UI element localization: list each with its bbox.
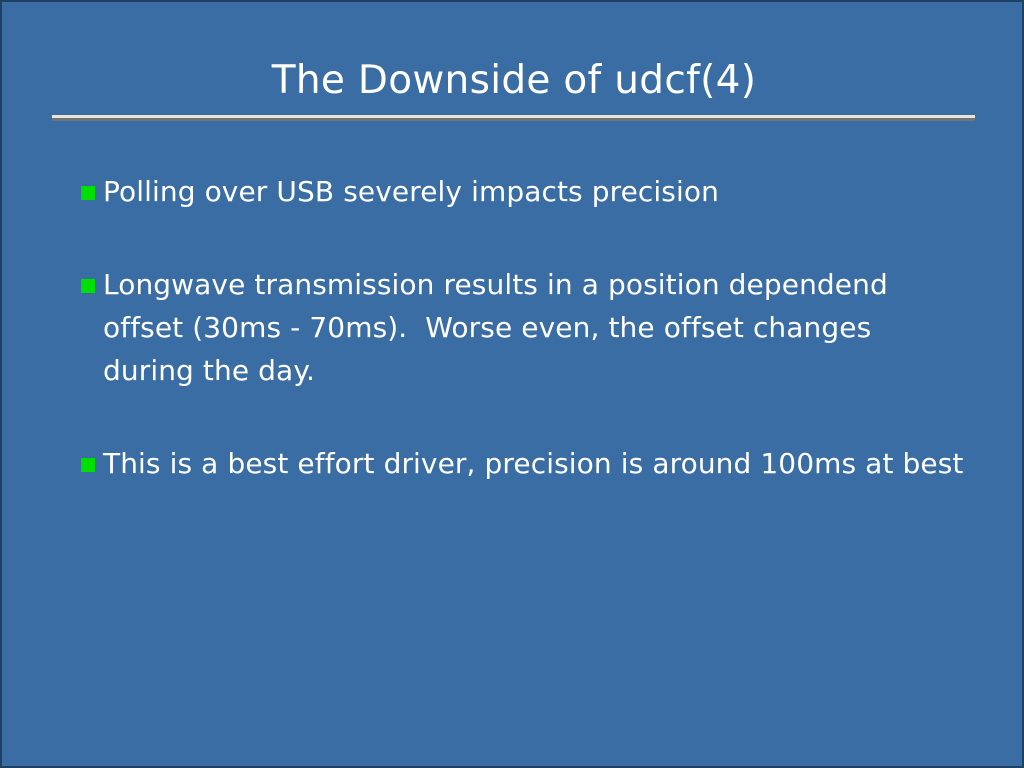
bullet-square-icon (81, 458, 95, 472)
title-divider-shadow (52, 118, 975, 121)
slide-body: Polling over USB severely impacts precis… (81, 170, 971, 485)
bullet-text: This is a best effort driver, precision … (103, 442, 971, 485)
bullet-square-icon (81, 186, 95, 200)
bullet-text: Longwave transmission results in a posit… (103, 263, 971, 392)
page-title: The Downside of udcf(4) (2, 58, 1024, 104)
bullet-square-icon (81, 279, 95, 293)
list-item: Longwave transmission results in a posit… (81, 263, 971, 392)
list-item: Polling over USB severely impacts precis… (81, 170, 971, 213)
bullet-text: Polling over USB severely impacts precis… (103, 170, 971, 213)
presentation-slide: The Downside of udcf(4) Polling over USB… (0, 0, 1024, 768)
list-item: This is a best effort driver, precision … (81, 442, 971, 485)
